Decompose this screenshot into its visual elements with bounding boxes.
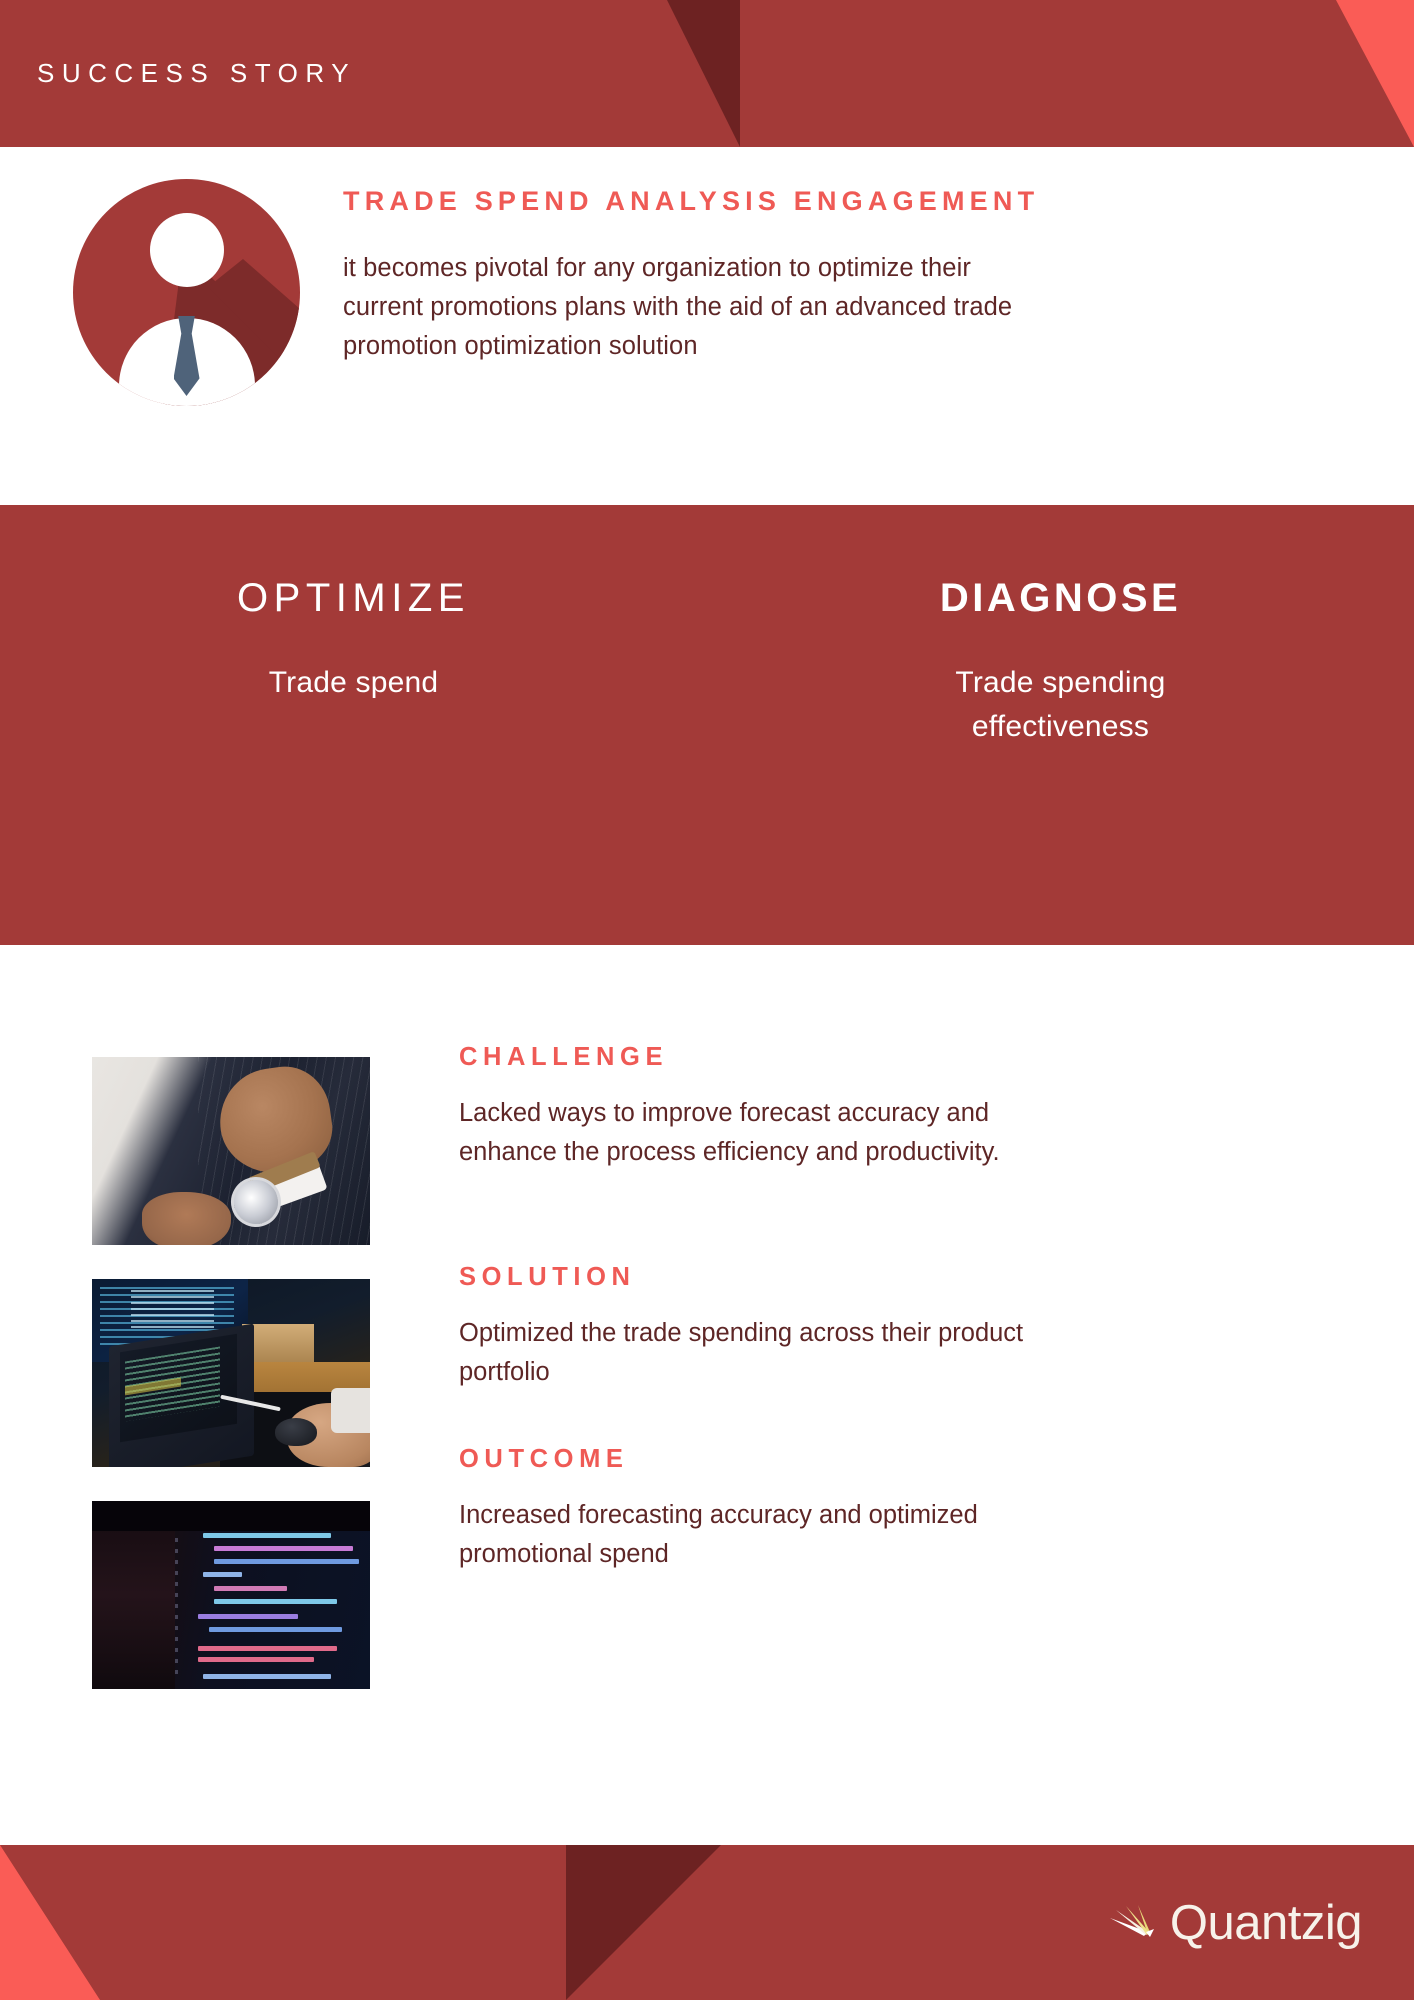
businessman-adjusting-watch-photo <box>92 1057 370 1245</box>
photo3-code-line <box>214 1546 353 1551</box>
developer-desk-laptop-photo <box>92 1279 370 1467</box>
intro-title: TRADE SPEND ANALYSIS ENGAGEMENT <box>343 179 1103 224</box>
quantzig-logo: Quantzig <box>1108 1845 1362 2000</box>
detail-heading-outcome: OUTCOME <box>459 1445 1059 1474</box>
photo3-code-line <box>203 1674 331 1679</box>
header-eyebrow-label: SUCCESS STORY <box>37 0 356 147</box>
footer-dark-triangle-decoration <box>566 1845 721 2000</box>
photo2-mouse <box>275 1418 317 1446</box>
photo3-code-line <box>209 1627 342 1632</box>
photo3-code-line <box>214 1599 336 1604</box>
footer-coral-triangle-decoration <box>0 1845 100 2000</box>
photo2-monitor-code-block <box>131 1290 214 1328</box>
band-subtext-optimize: Trade spend <box>0 661 707 705</box>
detail-heading-solution: SOLUTION <box>459 1263 1059 1292</box>
intro-section: TRADE SPEND ANALYSIS ENGAGEMENT it becom… <box>0 147 1414 505</box>
photo3-line-number-gutter <box>175 1516 178 1678</box>
quantzig-fan-icon <box>1108 1902 1164 1944</box>
band-subtext-diagnose: Trade spending effectiveness <box>707 661 1414 749</box>
photo3-code-line <box>203 1572 242 1577</box>
photo3-code-line <box>198 1646 337 1651</box>
photo3-top-shadow <box>92 1501 370 1531</box>
photo1-second-hand <box>142 1192 231 1245</box>
band-column-optimize: OPTIMIZE Trade spend <box>0 505 707 749</box>
intro-paragraph: it becomes pivotal for any organization … <box>343 249 1058 366</box>
detail-block-solution: SOLUTION Optimized the trade spending ac… <box>459 1263 1059 1392</box>
header-coral-triangle-decoration <box>1336 0 1414 147</box>
optimize-diagnose-band: OPTIMIZE Trade spend DIAGNOSE Trade spen… <box>0 505 1414 945</box>
quantzig-wordmark: Quantzig <box>1170 1895 1362 1951</box>
details-section: CHALLENGE Lacked ways to improve forecas… <box>0 945 1414 1845</box>
code-on-dark-screen-photo <box>92 1501 370 1689</box>
photo3-code-line <box>214 1559 359 1564</box>
band-heading-diagnose: DIAGNOSE <box>707 573 1414 623</box>
photo2-shirt-sleeve <box>331 1388 370 1433</box>
page-footer: Quantzig <box>0 1845 1414 2000</box>
band-heading-optimize: OPTIMIZE <box>0 573 707 623</box>
photo3-code-line <box>214 1586 286 1591</box>
detail-heading-challenge: CHALLENGE <box>459 1043 1059 1072</box>
header-dark-triangle-decoration <box>667 0 740 147</box>
photo3-code-line <box>203 1533 331 1538</box>
detail-body-challenge: Lacked ways to improve forecast accuracy… <box>459 1094 1029 1172</box>
detail-body-solution: Optimized the trade spending across thei… <box>459 1314 1029 1392</box>
photo3-code-line <box>198 1614 298 1619</box>
band-column-diagnose: DIAGNOSE Trade spending effectiveness <box>707 505 1414 749</box>
photo3-code-line <box>198 1657 315 1662</box>
detail-block-outcome: OUTCOME Increased forecasting accuracy a… <box>459 1445 1059 1574</box>
detail-block-challenge: CHALLENGE Lacked ways to improve forecas… <box>459 1043 1059 1172</box>
page-header: SUCCESS STORY <box>0 0 1414 147</box>
avatar-head-shape <box>150 213 224 287</box>
detail-body-outcome: Increased forecasting accuracy and optim… <box>459 1496 1029 1574</box>
person-avatar-icon <box>73 179 300 406</box>
